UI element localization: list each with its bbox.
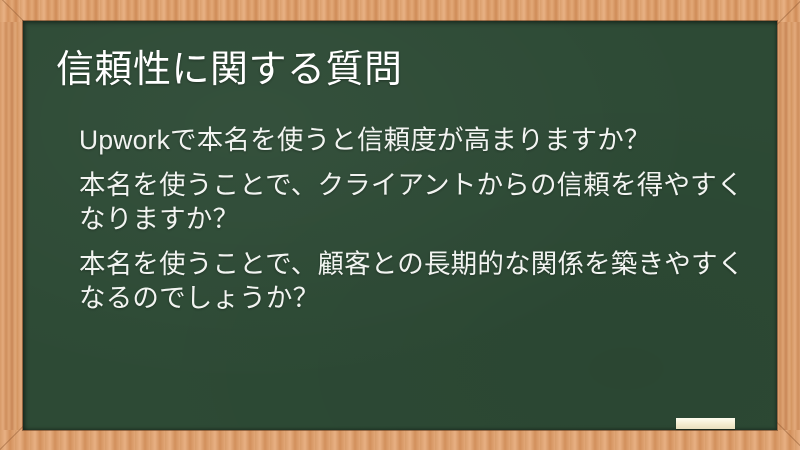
list-item: Upworkで本名を使うと信頼度が高まりますか？ (79, 123, 769, 157)
frame-bottom-rail (0, 430, 800, 450)
chalkboard-slide: 信頼性に関する質問 Upworkで本名を使うと信頼度が高まりますか？ 本名を使う… (0, 0, 800, 450)
chalkboard-surface: 信頼性に関する質問 Upworkで本名を使うと信頼度が高まりますか？ 本名を使う… (23, 21, 777, 430)
chalk-eraser-icon (676, 418, 735, 429)
list-item: 本名を使うことで、顧客との長期的な関係を築きやすくなるのでしょうか？ (79, 247, 769, 315)
frame-top-rail (0, 0, 800, 22)
list-item: 本名を使うことで、クライアントからの信頼を得やすくなりますか？ (79, 168, 769, 236)
slide-title: 信頼性に関する質問 (56, 47, 756, 93)
question-list: Upworkで本名を使うと信頼度が高まりますか？ 本名を使うことで、クライアント… (79, 123, 769, 315)
